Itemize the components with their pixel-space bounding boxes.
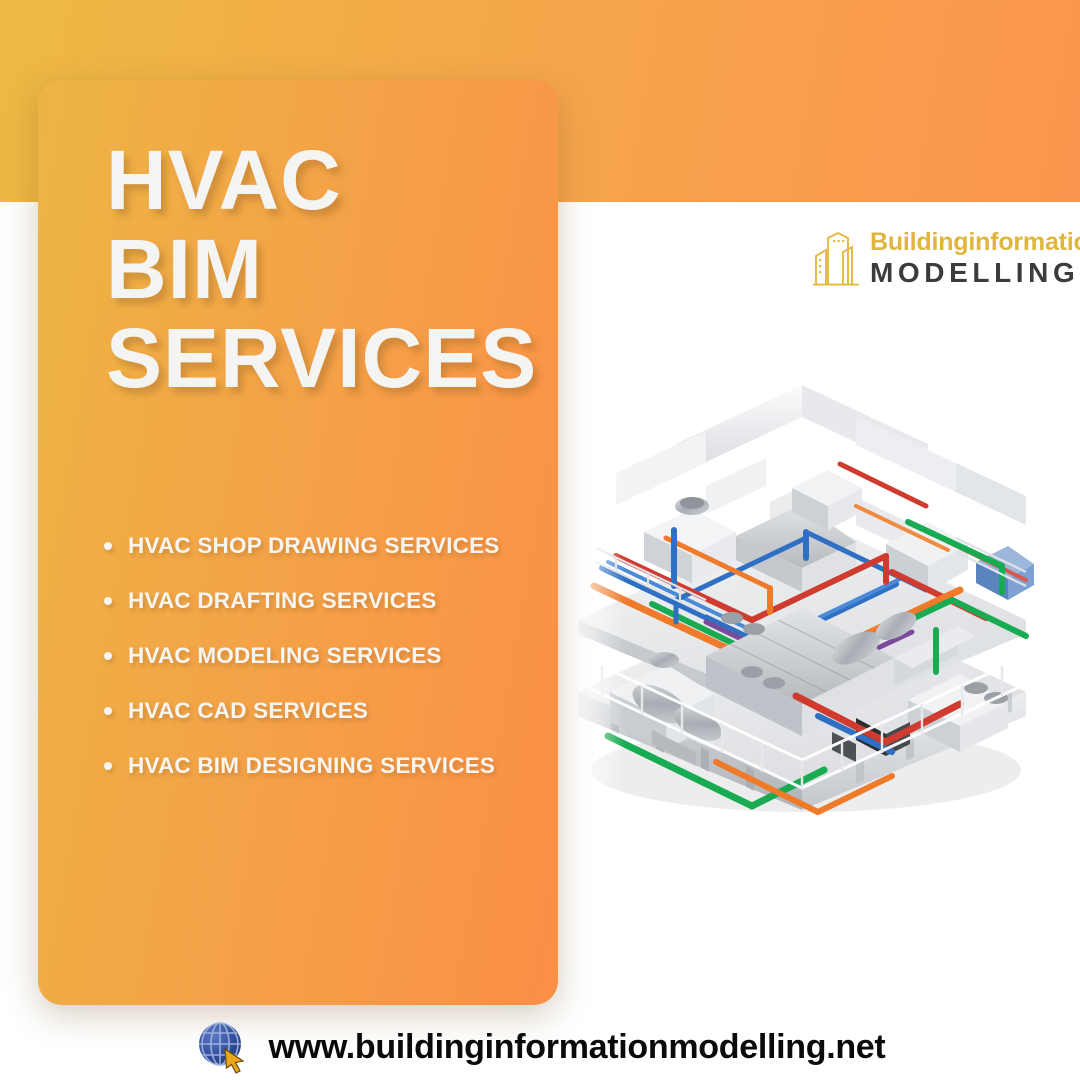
hvac-bim-illustration (556, 300, 1080, 830)
brand-logo: Buildinginformation MODELLING (812, 226, 1080, 290)
list-item: HVAC MODELING SERVICES (100, 643, 560, 669)
list-item: HVAC BIM DESIGNING SERVICES (100, 753, 560, 779)
footer-bar: www.buildinginformationmodelling.net (0, 1014, 1080, 1080)
website-url: www.buildinginformationmodelling.net (269, 1028, 886, 1067)
list-item: HVAC SHOP DRAWING SERVICES (100, 533, 560, 559)
poster-canvas: Buildinginformation MODELLING HVAC BIM S… (0, 0, 1080, 1080)
list-item: HVAC CAD SERVICES (100, 698, 560, 724)
logo-line-2: MODELLING (870, 259, 1080, 287)
list-item: HVAC DRAFTING SERVICES (100, 588, 560, 614)
title-line-2: BIM (106, 225, 576, 314)
page-title: HVAC BIM SERVICES (106, 136, 576, 403)
services-list: HVAC SHOP DRAWING SERVICES HVAC DRAFTING… (100, 533, 560, 808)
services-card: HVAC BIM SERVICES HVAC SHOP DRAWING SERV… (38, 80, 558, 1005)
building-skyline-icon (812, 226, 860, 290)
title-line-3: SERVICES (106, 314, 576, 403)
globe-cursor-icon (195, 1019, 251, 1075)
logo-line-1: Buildinginformation (870, 230, 1080, 255)
title-line-1: HVAC (106, 136, 576, 225)
